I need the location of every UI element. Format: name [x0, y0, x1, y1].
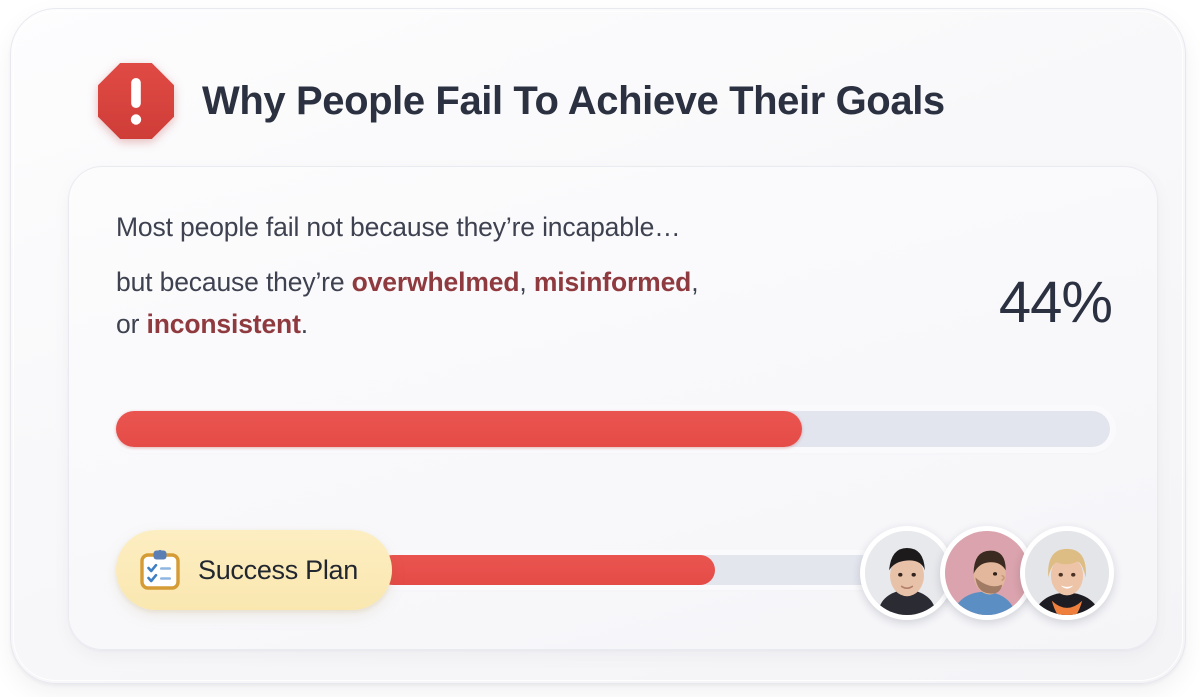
- failure-rate-progress-fill: [116, 411, 802, 447]
- explanation-copy: Most people fail not because they’re inc…: [116, 214, 876, 338]
- success-plan-label: Success Plan: [198, 555, 358, 586]
- success-plan-progress-fill: [378, 555, 715, 585]
- highlight-overwhelmed: overwhelmed: [352, 267, 520, 297]
- copy-line-2-prefix: but because they’re: [116, 267, 352, 297]
- copy-line-2-suffix: ,: [691, 267, 698, 297]
- copy-line-3-prefix: or: [116, 309, 146, 339]
- avatar-person-3[interactable]: [1020, 526, 1114, 620]
- highlight-inconsistent: inconsistent: [146, 309, 300, 339]
- success-plan-pill[interactable]: Success Plan: [116, 530, 392, 610]
- highlight-misinformed: misinformed: [534, 267, 691, 297]
- copy-line-1: Most people fail not because they’re inc…: [116, 214, 876, 241]
- screenshot-stage: Why People Fail To Achieve Their Goals M…: [0, 0, 1200, 697]
- inner-panel: Most people fail not because they’re inc…: [68, 166, 1158, 650]
- avatar-group: [860, 518, 1114, 628]
- failure-rate-progress[interactable]: [116, 411, 1110, 447]
- clipboard-checklist-icon: [138, 548, 182, 592]
- copy-line-2: but because they’re overwhelmed, misinfo…: [116, 269, 876, 296]
- page-title: Why People Fail To Achieve Their Goals: [202, 81, 945, 121]
- copy-line-3-suffix: .: [301, 309, 308, 339]
- card-header: Why People Fail To Achieve Their Goals: [96, 58, 945, 144]
- copy-line-3: or inconsistent.: [116, 311, 876, 338]
- success-plan-row: Success Plan: [116, 518, 1110, 628]
- copy-line-2-separator: ,: [519, 267, 533, 297]
- failure-percent-value: 44%: [999, 274, 1112, 332]
- alert-octagon-icon: [96, 61, 176, 141]
- outer-card: Why People Fail To Achieve Their Goals M…: [10, 8, 1186, 684]
